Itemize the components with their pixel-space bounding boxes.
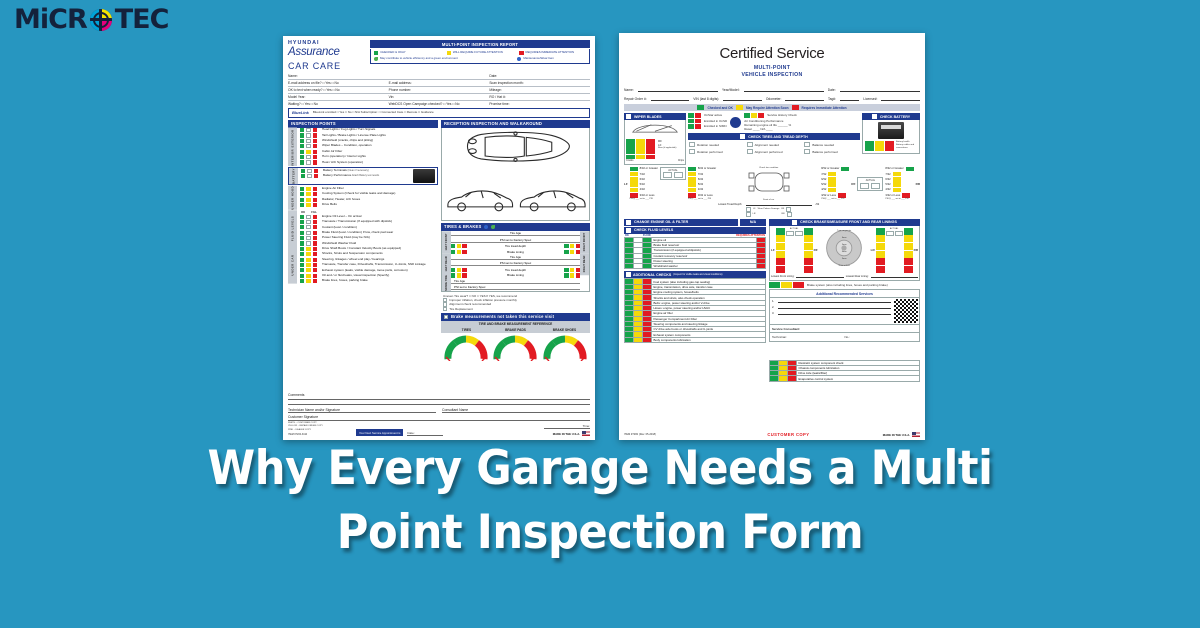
tread-column[interactable]: 8/32 or Greater7/326/325/324/323/32 or L…	[630, 167, 658, 202]
inspection-row[interactable]: Battery Performance Attach Battery test …	[298, 173, 413, 178]
inspection-marks[interactable]	[300, 268, 320, 272]
technician-field[interactable]: Technician Name and/or Signature	[288, 408, 436, 414]
group-side-label: EXTERIOR	[288, 128, 297, 150]
field-mid-3[interactable]: Vin:	[389, 95, 490, 99]
right-form-fields-row1[interactable]: Name: Year/Model: Date:	[624, 86, 920, 92]
inspection-label: Tail Lights / Brake Lights / License Pla…	[322, 134, 386, 138]
tires-brakes-grid[interactable]: LEFT FRONT LEFT REAR SPARE TIRE Tire Age…	[441, 231, 590, 293]
hyundai-tagline: CAR CARE	[288, 61, 364, 71]
brake-linings-grid[interactable]: LF ACTUAL RF	[769, 226, 920, 281]
brake-lining-cell[interactable]	[904, 251, 913, 258]
tb-line-label: PSI set to Factory Spec	[451, 261, 580, 266]
brake-lining-cell[interactable]	[804, 251, 813, 258]
tire-cb-5: Balance performed	[812, 150, 837, 154]
inspection-group-exterior: EXTERIORHead Lights / Fog Lights / Turn …	[288, 128, 438, 150]
inspection-label: Battery Performance Attach Battery test …	[323, 174, 379, 178]
brake-lining-cell[interactable]	[904, 266, 913, 273]
rf-date-label: Date:	[828, 88, 836, 92]
tread-column[interactable]: 8/32 or Greater7/326/325/324/323/32 or L…	[885, 167, 913, 202]
tread-row[interactable]: 7/32	[688, 172, 716, 177]
additional-row[interactable]: Body components lubrication	[625, 337, 766, 342]
inspection-label: Horn (operation) / Interior Lights	[322, 155, 366, 159]
tread-row[interactable]: 3/32 or Less	[885, 193, 913, 198]
inspection-row[interactable]: Heat / A/C System (operation)	[297, 160, 438, 165]
tb-marks[interactable]	[564, 244, 580, 248]
tread-label: 8/32 or Greater	[821, 167, 839, 170]
service-consultant-field[interactable]: Service Consultant:	[769, 325, 920, 333]
tread-row[interactable]: 5/32	[688, 182, 716, 187]
tire-cb-0: Rotation needed	[697, 143, 719, 147]
field-right-3[interactable]: RO / Hat #:	[489, 95, 590, 99]
psi-row[interactable]: PSI@ ___ set to ___ PSI	[630, 198, 658, 201]
brake-measure-note: Brake measurements not taken this servic…	[451, 314, 554, 319]
certified-service-inspection-form: Certified Service MULTI-POINT VEHICLE IN…	[619, 33, 925, 440]
walkaround-diagram[interactable]	[441, 128, 590, 221]
gauge-brake-shoes-icon	[543, 335, 587, 361]
field-right-0[interactable]: Date:	[489, 74, 590, 78]
customer-fields: Name:Date: E-mail address on file? □ Yes…	[288, 73, 590, 107]
brake-corner-lf: LF	[771, 248, 775, 252]
psi-row[interactable]: PSI@ ___ set to ___ PSI	[688, 198, 716, 201]
brake-lining-cell[interactable]	[904, 228, 913, 235]
target-cmyk-icon	[90, 9, 112, 31]
inspection-marks[interactable]	[300, 236, 320, 240]
brake-lining-cell[interactable]	[804, 266, 813, 273]
inspection-marks[interactable]	[300, 144, 320, 148]
tread-label: 4/32	[698, 188, 703, 191]
check-tires-title: CHECK TIRES AND TREAD DEPTH	[748, 135, 808, 139]
brand-logo: MiCR TEC	[14, 6, 168, 33]
inspection-label: Cabin Air Filter	[322, 150, 342, 154]
headline-line-1: Why Every Garage Needs a Multi	[48, 437, 1152, 501]
brake-rotor-icon	[824, 228, 864, 268]
onstar-right-0: Service History Check	[767, 113, 797, 117]
brake-lining-cell[interactable]	[904, 258, 913, 265]
tb-marks[interactable]	[451, 268, 467, 272]
inspection-marks[interactable]	[300, 139, 320, 143]
onstar-right-3: Reset ____ N/A ____	[744, 127, 860, 131]
tread-row[interactable]: 5/32	[821, 182, 849, 187]
brake-lining-cell[interactable]	[776, 266, 785, 273]
brake-lining-column[interactable]	[876, 228, 885, 273]
chk-red[interactable]	[643, 337, 652, 342]
tb-line-label: Brake Lining	[471, 273, 561, 277]
consultant-field[interactable]: Consultant Name	[442, 408, 590, 414]
comments-label: Comments	[288, 393, 304, 397]
brake-lining-cell[interactable]	[876, 235, 885, 242]
tb-marks[interactable]	[451, 250, 467, 254]
tread-row[interactable]: 4/32	[630, 188, 658, 193]
rf-ro-label: Repair Order #:	[624, 97, 647, 101]
fluids-col-ok: OK	[625, 234, 643, 237]
gauge-title-1: BRAKE PADS	[491, 328, 540, 332]
inspection-label: Heat / A/C System (operation)	[322, 161, 363, 165]
psi-row[interactable]: PSI@ ___ set to ___ PSI	[885, 198, 913, 201]
rf-vin-label: VIN (last 8 digits):	[693, 97, 719, 101]
spare-tire-age[interactable]: Tire Age	[451, 278, 580, 284]
inspection-marks[interactable]	[300, 252, 320, 256]
tb-line[interactable]: Tire Age	[451, 231, 580, 237]
inspection-group-battery: BATTERYBattery Terminals (Clean if neces…	[288, 167, 438, 185]
tread-row[interactable]: 6/32	[821, 177, 849, 182]
inspection-label: Power Steering Fluid (may be N/A)	[322, 236, 370, 240]
group-side-label: FLUID LEVELS	[288, 210, 297, 246]
rf-tag-label: Tag#:	[828, 97, 836, 101]
usa-flag-icon	[582, 431, 590, 436]
group-side-label: BATTERY	[289, 168, 298, 184]
tread-row[interactable]: 7/32	[885, 172, 913, 177]
inspection-group-fluid-levels: FLUID LEVELSOKFILLEngine Oil Level – On …	[288, 210, 438, 246]
bluelink-row[interactable]: BlueLink BlueLink enrolled □ Yes □ No □ …	[288, 108, 590, 118]
chk-yellow[interactable]	[634, 337, 643, 342]
inspection-label: Windshield (cracks, chips and pitting)	[322, 139, 373, 143]
chk-red[interactable]	[788, 376, 797, 381]
lowest-tread-label: Lowest Tread Depth:	[718, 203, 742, 206]
brake-lining-cell[interactable]	[776, 258, 785, 265]
tb-right-rear-label: RIGHT REAR	[580, 253, 589, 275]
tb-line-label: PSI set to Factory Spec	[451, 238, 580, 243]
rf-legend-0: Checked and OK	[707, 106, 733, 110]
chk-green[interactable]	[770, 376, 779, 381]
fluid-label: Windshield washer	[652, 264, 757, 269]
rec-num-1: 2.	[772, 305, 774, 309]
brake-lining-cell[interactable]	[876, 266, 885, 273]
page-title: Why Every Garage Needs a Multi Point Ins…	[48, 437, 1152, 565]
tread-label: 3/32 or Less	[698, 194, 713, 197]
inspection-row[interactable]: Drive Belts	[297, 202, 438, 207]
right-form-subtitle-2: VEHICLE INSPECTION	[624, 72, 920, 79]
inspection-label: Engine Oil Level – On arrival	[322, 215, 361, 219]
brake-lining-column[interactable]	[804, 228, 813, 273]
fluid-ok-cell2[interactable]	[643, 264, 652, 269]
tread-row[interactable]: 8/32 or Greater	[821, 167, 849, 172]
field-left-1[interactable]: E-mail address on file? □ Yes □ No	[288, 81, 389, 85]
inspection-group-under-hood: UNDER HOODEngine Air FilterCooling Syste…	[288, 186, 438, 210]
wear-pattern-label: Wear Pattern Damage	[758, 208, 780, 211]
tb-line[interactable]: Tire Age	[451, 254, 580, 260]
tread-row[interactable]: 3/32 or Less	[688, 193, 716, 198]
inspection-label: Brake lines, hoses, parking brake	[322, 279, 368, 283]
tread-row[interactable]: 6/32	[630, 177, 658, 182]
inspection-marks[interactable]	[300, 263, 320, 267]
tread-row[interactable]: 6/32	[688, 177, 716, 182]
tread-row[interactable]: 4/32	[885, 188, 913, 193]
inspection-marks[interactable]	[301, 174, 321, 178]
inspection-marks[interactable]	[300, 155, 320, 159]
field-left-2[interactable]: OK to text when ready? □ Yes □ No	[288, 88, 389, 92]
tread-row[interactable]: 6/32	[885, 177, 913, 182]
brake-lining-cell[interactable]	[804, 243, 813, 250]
right-item-number: ITEM #7282 (Rev. 05-2018)	[624, 433, 694, 437]
tread-corner-rr: RR	[916, 182, 920, 186]
rf-legend-1: May Require Attention Soon	[746, 106, 789, 110]
tread-label: 4/32	[821, 188, 826, 191]
tread-row[interactable]: 4/32	[688, 188, 716, 193]
fluid-attention-cell[interactable]	[757, 264, 766, 269]
tb-marks[interactable]	[564, 268, 580, 272]
brake-scale-5: 2mm or less	[819, 265, 870, 268]
tread-label: 5/32	[885, 183, 890, 186]
tread-row[interactable]: 5/32	[885, 182, 913, 187]
inspection-sublabel: (Clean if necessary)	[347, 169, 369, 172]
oil-na: N/A	[750, 220, 756, 224]
brake-corner-rf: RF	[814, 248, 818, 252]
psi-row[interactable]: PSI@ ___ set to ___ PSI	[821, 198, 849, 201]
rf-name-label: Name:	[624, 88, 634, 92]
inspection-label: Shocks, Struts and Suspension components	[322, 252, 383, 256]
fluid-levels-table[interactable]: Engine oilBrake fluid reservoirTransmiss…	[624, 237, 766, 270]
inspection-group-interior: INTERIORCabin Air FilterHorn (operation)…	[288, 149, 438, 166]
legend-text-1: WILL REQUIRE FUTURE ATTENTION	[453, 51, 503, 55]
fluid-ok-cell[interactable]	[625, 264, 634, 269]
brake-system-note: Brake system (also including lines, hose…	[807, 283, 888, 287]
field-mid-2[interactable]: Phone number:	[389, 88, 490, 92]
fluid-blank-cell[interactable]	[634, 264, 643, 269]
inspection-marks[interactable]	[300, 198, 320, 202]
tb-line[interactable]: PSI set to Factory Spec	[451, 237, 580, 243]
inspection-sublabel: Attach Battery test results	[351, 174, 379, 177]
group-side-label: UNDER CAR	[288, 246, 297, 284]
inspection-marks[interactable]	[300, 203, 320, 207]
tread-label: 7/32	[821, 173, 826, 176]
tread-label: 8/32 or Greater	[640, 167, 658, 170]
additional-checks-table[interactable]: Fuel system (also including gas cap seal…	[624, 278, 766, 343]
additional-right-row[interactable]: Evaporative control system	[770, 376, 920, 381]
brake-lining-cell[interactable]	[876, 258, 885, 265]
tb-line-label: Tire tread depth	[471, 244, 561, 248]
tread-label: 7/32	[640, 173, 645, 176]
tread-label: 3/32 or Less	[640, 194, 655, 197]
brake-lining-cell[interactable]	[876, 228, 885, 235]
fluids-col-attn: REQUIRES ATTENTION	[736, 234, 765, 237]
uneven-wear-block[interactable]: Uneven Tire wear? □ NO □ YES If YES, we …	[441, 292, 590, 311]
wiper-foot-cracks: Cracks	[626, 159, 633, 162]
inspection-marks[interactable]	[300, 274, 320, 278]
tread-label: 6/32	[821, 178, 826, 181]
car-side-views-icon	[442, 187, 589, 213]
chk-green[interactable]	[625, 337, 634, 342]
wiper-foot-chips: Chips	[678, 159, 684, 162]
inspection-label: Exhaust system (leaks, visible damage, l…	[322, 269, 408, 273]
tread-label: 4/32	[885, 188, 890, 191]
inspection-marks[interactable]	[300, 192, 320, 196]
gauge-tires-icon	[444, 335, 488, 361]
inspection-marks[interactable]	[300, 220, 320, 224]
inspection-label: Coolant (level / condition)	[322, 226, 357, 230]
tb-marks[interactable]	[451, 244, 467, 248]
tb-marks[interactable]	[564, 273, 580, 277]
brake-lining-cell[interactable]	[904, 235, 913, 242]
brake-lining-cell[interactable]	[804, 258, 813, 265]
hyundai-inspection-form: HYUNDAI Assurance CAR CARE MULTI-POINT I…	[283, 36, 595, 440]
tread-label: 6/32	[698, 178, 703, 181]
logo-text-right: TEC	[115, 6, 169, 33]
customer-signature-field[interactable]: Customer Signature	[288, 415, 590, 421]
inspection-marks[interactable]	[300, 215, 320, 219]
copy-note-2: PINK – DEALER COPY	[288, 429, 352, 432]
brake-corner-rr: RR	[914, 248, 918, 252]
tb-marks[interactable]	[564, 250, 580, 254]
tread-row[interactable]: 4/32	[821, 188, 849, 193]
rf-license-label: License#:	[863, 97, 877, 101]
car-top-view-icon	[442, 130, 589, 182]
right-made-in-usa: MADE IN THE U.S.A.	[883, 433, 910, 437]
tb-line[interactable]: PSI set to Factory Spec	[451, 261, 580, 267]
tread-row[interactable]: 3/32 or Less	[821, 193, 849, 198]
oil-title: CHANGE ENGINE OIL & FILTER	[634, 220, 688, 224]
tread-row[interactable]: 7/32	[630, 172, 658, 177]
tb-marks[interactable]	[451, 273, 467, 277]
wiper-title: WIPER BLADES	[634, 115, 662, 119]
tb-measurement-lines: Tire AgePSI set to Factory SpecTire trea…	[451, 231, 580, 292]
tread-label: 6/32	[885, 178, 890, 181]
onstar-item-0: OnStar active	[704, 113, 722, 117]
brake-scale-4: 3mm	[819, 258, 870, 261]
tire-cb-3: Alignment performed	[755, 150, 783, 154]
inspection-marks[interactable]	[300, 258, 320, 262]
tread-row[interactable]: 8/32 or Greater	[688, 167, 716, 172]
brake-lining-cell[interactable]	[804, 228, 813, 235]
check-battery-section[interactable]: CHECK BATTERY Battery health Battery cab…	[862, 113, 920, 165]
additional-checks-right-table[interactable]: Restraint system component checkChassis …	[769, 360, 920, 382]
inspection-marks[interactable]	[300, 150, 320, 154]
inspection-label: Drive Shaft Boots / Constant Velocity Bo…	[322, 247, 401, 251]
right-form-fields-row2[interactable]: Repair Order #: VIN (last 8 digits): Odo…	[624, 95, 920, 101]
additional-label: Body components lubrication	[652, 337, 766, 342]
battery-icon	[878, 122, 904, 139]
inspection-row[interactable]: Brake lines, hoses, parking brake	[297, 278, 438, 283]
brake-scale-3: 4mm	[819, 251, 870, 254]
brake-lining-cell[interactable]	[776, 243, 785, 250]
brake-lining-cell[interactable]	[876, 251, 885, 258]
battery-title: CHECK BATTERY	[880, 115, 910, 119]
spare-psi[interactable]: PSI set to Factory Spec	[451, 285, 580, 291]
tread-label: 7/32	[698, 173, 703, 176]
headline-line-2: Point Inspection Form	[48, 501, 1152, 565]
brake-lining-cell[interactable]	[804, 235, 813, 242]
chk-yellow[interactable]	[779, 376, 788, 381]
tread-depth-grid[interactable]: LF 8/32 or Greater7/326/325/324/323/32 o…	[624, 167, 920, 217]
rf-odometer-label: Odometer:	[766, 97, 782, 101]
field-left-0[interactable]: Name:	[288, 74, 389, 78]
additional-subtitle: (Inspect for visible leaks and visual co…	[673, 273, 722, 276]
tread-label: 6/32	[640, 178, 645, 181]
onstar-item-2: Enrolled in SIMN	[704, 124, 727, 128]
field-right-4[interactable]: Promise time:	[489, 102, 590, 106]
tread-corner-lf2: LF	[753, 208, 756, 211]
left-form-footer: Comments Technician Name and/or Signatur…	[288, 393, 590, 436]
inspection-label: Battery Terminals (Clean if necessary)	[323, 169, 369, 173]
field-right-2[interactable]: Mileage:	[489, 88, 590, 92]
brake-lining-cell[interactable]	[904, 243, 913, 250]
brake-lining-cell[interactable]	[776, 228, 785, 235]
tb-line-label: Tire Age	[451, 231, 580, 236]
tread-row[interactable]: 8/32 or Greater	[885, 167, 913, 172]
tread-column[interactable]: 8/32 or Greater7/326/325/324/323/32 or L…	[688, 167, 716, 202]
inspection-marks[interactable]	[300, 187, 320, 191]
brake-lining-column[interactable]	[776, 228, 785, 273]
inspection-label: Windshield Washer Fluid	[322, 242, 356, 246]
tread-row[interactable]: 5/32	[630, 182, 658, 187]
field-mid-4[interactable]: WebDCS Open Campaign checked? □ Yes □ No	[389, 102, 490, 106]
tread-label: 7/32	[885, 173, 890, 176]
tread-column[interactable]: 8/32 or Greater7/326/325/324/323/32 or L…	[821, 167, 849, 202]
tread-row[interactable]: 8/32 or Greater	[630, 167, 658, 172]
brake-lining-cell[interactable]	[776, 235, 785, 242]
wiper-blades-section[interactable]: WIPER BLADES RF LF Rear (if applicable	[624, 113, 686, 165]
appt-time-field[interactable]: Time:	[544, 424, 590, 429]
legend-text-2: REQUIRES IMMEDIATE ATTENTION	[526, 51, 575, 55]
tread-row[interactable]: 7/32	[821, 172, 849, 177]
field-mid-0[interactable]	[389, 74, 490, 78]
inspection-marks[interactable]	[300, 231, 320, 235]
next-appointment-banner: Your Next Service Appointment is	[356, 429, 403, 436]
made-in-usa-label: MADE IN THE U.S.A.	[553, 432, 580, 436]
inspection-marks[interactable]	[300, 241, 320, 245]
onstar-section[interactable]: OnStar active Enrolled in OnSD Enrolled …	[688, 113, 860, 165]
inspection-marks[interactable]	[301, 169, 321, 173]
inspection-marks[interactable]	[300, 133, 320, 137]
tire-cb-4: Balance needed	[812, 143, 834, 147]
field-left-3[interactable]: Model Year:	[288, 95, 389, 99]
field-right-1[interactable]: Scan inspection month:	[489, 81, 590, 85]
inspection-marks[interactable]	[300, 279, 320, 283]
gauge-title-2: BRAKE SHOES	[540, 328, 589, 332]
brake-scale-0: 7mm or greater	[819, 230, 870, 233]
tread-label: 4/32	[640, 188, 645, 191]
item-number: ITEM #7200-3410	[288, 433, 352, 436]
inspection-label: Cooling System (Check for visible leaks …	[322, 192, 395, 196]
brake-lining-cell[interactable]	[776, 251, 785, 258]
rf-legend-2: Requires Immediate Attention	[802, 106, 847, 110]
inspection-marks[interactable]	[300, 160, 320, 164]
tire-cb-2: Alignment needed	[755, 143, 779, 147]
brake-lining-column[interactable]	[904, 228, 913, 273]
tread-label: 8/32 or Greater	[698, 167, 716, 170]
recommended-services-title: Additional Recommended Services	[769, 289, 920, 298]
tire-checkbox-grid[interactable]: Rotation needed Rotation performed Align…	[688, 140, 860, 156]
inspection-label: Brake Fluid (level / condition) If low, …	[322, 231, 393, 235]
lowest-front-lining: Lowest Front Lining:	[771, 275, 794, 278]
section-inspection-points: INSPECTION POINTS	[288, 120, 438, 128]
technician-no-field[interactable]: No.:	[845, 335, 918, 339]
group-side-label: INTERIOR	[288, 149, 297, 166]
onstar-item-1: Enrolled in OnSD	[704, 119, 727, 123]
technician-field-right[interactable]: Technician:	[772, 335, 845, 339]
brake-scale-1: 6mm	[819, 237, 870, 240]
appt-date-field[interactable]: Date:	[407, 431, 443, 436]
inspection-label: Transaxle, Transfer case, Driveshafts, T…	[322, 263, 426, 267]
brake-lining-cell[interactable]	[876, 243, 885, 250]
tread-row[interactable]: 3/32 or Less	[630, 193, 658, 198]
inspection-marks[interactable]	[300, 225, 320, 229]
hyundai-program: Assurance	[288, 47, 364, 59]
fluid-row[interactable]: Windshield washer	[625, 264, 766, 269]
field-mid-1[interactable]: E-mail address:	[389, 81, 490, 85]
tread-corner-rr2: RR	[781, 213, 784, 216]
inspection-label: Transaxle / Transmission (If equipped wi…	[322, 220, 392, 224]
tb-right-front-label: RIGHT FRONT	[580, 231, 589, 253]
battery-note-1: Battery cables and connections	[896, 144, 917, 150]
additional-title: ADDITIONAL CHECKS	[633, 273, 671, 277]
inspection-marks[interactable]	[300, 247, 320, 251]
brakes-title: CHECK BRAKES/MEASURE FRONT AND REAR LINI…	[800, 220, 897, 224]
rec-num-2: 3.	[772, 311, 774, 315]
field-left-4[interactable]: Waiting? □ Yes □ No	[288, 102, 389, 106]
inspection-label: Steering, linkages / wheel end play / be…	[322, 258, 384, 262]
inspection-marks[interactable]	[300, 128, 320, 132]
tb-line-label: Brake Lining	[471, 250, 561, 254]
